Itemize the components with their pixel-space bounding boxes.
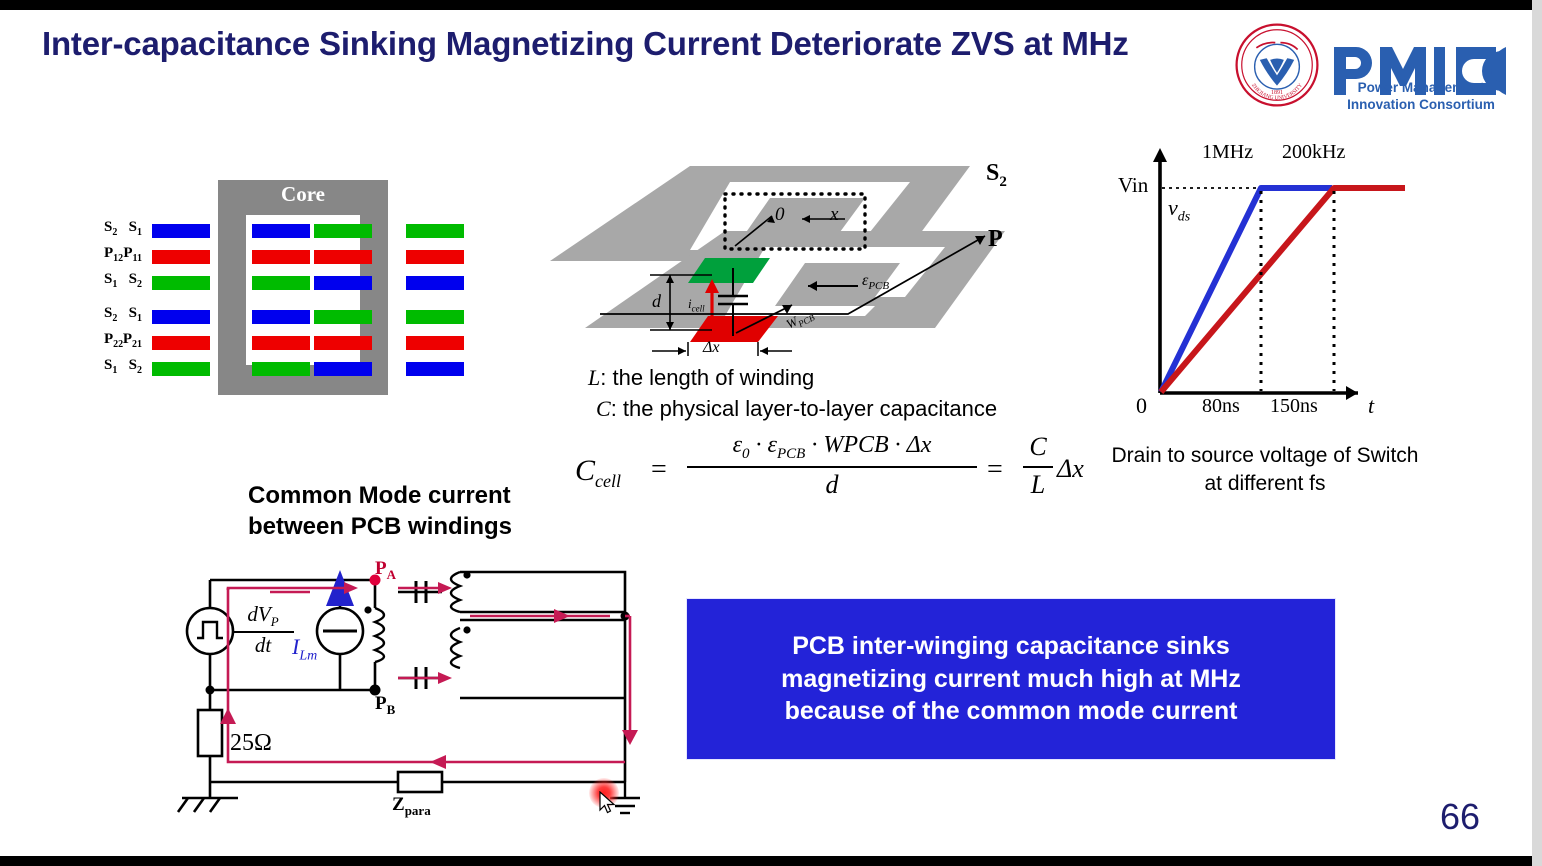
winding-bar [314, 224, 372, 238]
pmic-subtitle-line2: Innovation Consortium [1330, 97, 1512, 114]
callout-line3: because of the common mode current [781, 695, 1241, 728]
winding-bar [314, 276, 372, 290]
circuit-label-resistor: 25Ω [230, 730, 272, 757]
circuit-label-zpara: Zpara [392, 794, 431, 819]
common-mode-heading-line2: between PCB windings [248, 511, 588, 542]
pcb-label-s2: S2 [986, 160, 1007, 191]
winding-label: S1 [129, 219, 142, 238]
common-mode-heading: Common Mode current between PCB windings [248, 480, 588, 542]
resistor-25ohm [198, 710, 222, 756]
winding-label: P11 [123, 245, 142, 264]
definition-C-text: : the physical layer-to-layer capacitanc… [611, 396, 997, 421]
x-axis-arrow [1346, 386, 1358, 400]
winding-bar [406, 362, 464, 376]
winding-bar [252, 362, 310, 376]
transformer-core-diagram: Core S1S2P11P12S2S1S1S2P21P22S2S1 [152, 180, 482, 395]
circuit-label-pa: PA [375, 558, 396, 583]
logo-group: 1891 ZHEJIANG UNIVERSITY [1226, 18, 1516, 122]
series-200khz [1161, 188, 1405, 392]
chart-series-label-1mhz: 1MHz [1202, 141, 1253, 164]
winding-bar [406, 250, 464, 264]
conclusion-callout-box: PCB inter-winging capacitance sinks magn… [686, 598, 1336, 760]
circuit-label-ilm: ILm [292, 634, 317, 664]
definition-L-text: : the length of winding [600, 365, 814, 390]
slide-canvas: Inter-capacitance Sinking Magnetizing Cu… [0, 10, 1532, 856]
chart-caption: Drain to source voltage of Switch at dif… [1100, 442, 1430, 499]
chart-ylabel-vin: Vin [1118, 173, 1148, 198]
winding-bar [406, 336, 464, 350]
common-mode-heading-line1: Common Mode current [248, 480, 588, 511]
bottom-letterbox-bar [0, 856, 1542, 866]
winding-bar [252, 310, 310, 324]
secondary-dot-top [463, 571, 470, 578]
vds-chart-svg [1110, 135, 1410, 435]
formula-denominator: d [687, 470, 977, 500]
winding-bar [314, 336, 372, 350]
formula-rhs-bar [1023, 466, 1053, 468]
primary-winding [375, 608, 384, 662]
slide-root: Inter-capacitance Sinking Magnetizing Cu… [0, 0, 1542, 866]
formula-rhs-denominator: L [1023, 470, 1053, 500]
winding-label: P22 [104, 331, 123, 350]
chart-xtick-80ns: 80ns [1202, 395, 1240, 418]
winding-bar [406, 276, 464, 290]
circuit-svg [170, 550, 660, 835]
pcb-label-epsilon-pcb: εPCB [862, 272, 889, 292]
winding-bar [314, 310, 372, 324]
winding-label: S1 [104, 271, 117, 290]
pcb-label-p: P [988, 226, 1003, 253]
secondary-winding-bottom [451, 628, 460, 668]
pcb-label-d: d [652, 291, 661, 312]
winding-label: S2 [104, 305, 117, 324]
definition-C: C: the physical layer-to-layer capacitan… [596, 393, 1068, 424]
pcb-layer-3d-diagram: S2 P 0 x εPCB d icell Δx WPCB [540, 146, 1080, 356]
chart-xtick-0: 0 [1136, 393, 1147, 419]
pcb-label-icell: icell [688, 296, 705, 314]
secondary-winding-top [451, 572, 460, 612]
winding-bar [406, 310, 464, 324]
definition-C-symbol: C [596, 396, 611, 421]
winding-bar [314, 362, 372, 376]
pcb-label-delta-x: Δx [703, 339, 720, 357]
magnetizing-current-source [317, 570, 363, 654]
node-mid-left [206, 686, 215, 695]
circuit-label-dvp-dt: dVP dt [232, 602, 294, 658]
winding-label: P21 [123, 331, 142, 350]
page-title: Inter-capacitance Sinking Magnetizing Cu… [42, 22, 1212, 66]
capacitance-formula: Ccell = ε0 · εPCB · WPCB · Δx d = C L Δx [575, 430, 1075, 505]
zhejiang-university-seal-icon: 1891 ZHEJIANG UNIVERSITY [1234, 22, 1320, 108]
vds-waveform-chart: Vin vds 1MHz 200kHz 0 80ns 150ns t [1110, 135, 1410, 435]
winding-label: P12 [104, 245, 123, 264]
formula-rhs-delta: Δx [1057, 454, 1084, 484]
callout-line1: PCB inter-winging capacitance sinks [781, 630, 1241, 663]
winding-bar [152, 224, 210, 238]
formula-fraction-bar [687, 466, 977, 468]
winding-bar [152, 336, 210, 350]
secondary-dot-bottom [463, 626, 470, 633]
circuit-label-pb: PB [375, 693, 395, 718]
pcb-label-x: x [830, 204, 838, 226]
chart-xtick-150ns: 150ns [1270, 395, 1318, 418]
top-letterbox-bar [0, 0, 1542, 10]
winding-bar [152, 362, 210, 376]
chart-series-label-200khz: 200kHz [1282, 141, 1345, 164]
winding-label: S1 [104, 357, 117, 376]
winding-bar [406, 224, 464, 238]
common-mode-circuit-schematic: PA PB dVP dt ILm 25Ω Zpara [170, 550, 660, 835]
callout-line2: magnetizing current much high at MHz [781, 663, 1241, 696]
page-number: 66 [1440, 796, 1480, 838]
definition-list: L: the length of winding C: the physical… [588, 362, 1068, 424]
y-axis-arrow [1153, 148, 1167, 162]
formula-equals-1: = [651, 454, 667, 486]
chart-xlabel-t: t [1368, 393, 1374, 419]
mouse-cursor-icon [599, 791, 617, 815]
definition-L-symbol: L [588, 365, 600, 390]
right-edge-strip [1532, 0, 1542, 866]
winding-label: S2 [129, 271, 142, 290]
pmic-subtitle-line1: Power Management [1330, 80, 1512, 97]
winding-bar [314, 250, 372, 264]
pcb-label-origin: 0 [775, 204, 785, 226]
formula-rhs-numerator: C [1023, 432, 1053, 462]
winding-bar [252, 250, 310, 264]
winding-label: S2 [129, 357, 142, 376]
zpara-block [398, 772, 442, 792]
winding-label: S2 [104, 219, 117, 238]
winding-bar [252, 336, 310, 350]
ground-symbol-left [178, 782, 238, 812]
winding-bar [152, 276, 210, 290]
core-label: Core [218, 182, 388, 207]
definition-L: L: the length of winding [588, 362, 1068, 393]
pulse-voltage-source [187, 608, 233, 654]
formula-equals-2: = [987, 454, 1003, 486]
chart-signal-label-vds: vds [1168, 195, 1190, 225]
winding-bar [152, 310, 210, 324]
winding-bar [252, 276, 310, 290]
winding-bar [252, 224, 310, 238]
formula-numerator: ε0 · εPCB · WPCB · Δx [687, 432, 977, 463]
primary-dot [364, 606, 371, 613]
winding-label: S1 [129, 305, 142, 324]
winding-bar [152, 250, 210, 264]
conclusion-callout-text: PCB inter-winging capacitance sinks magn… [771, 630, 1251, 728]
pmic-subtitle: Power Management Innovation Consortium [1330, 80, 1512, 114]
